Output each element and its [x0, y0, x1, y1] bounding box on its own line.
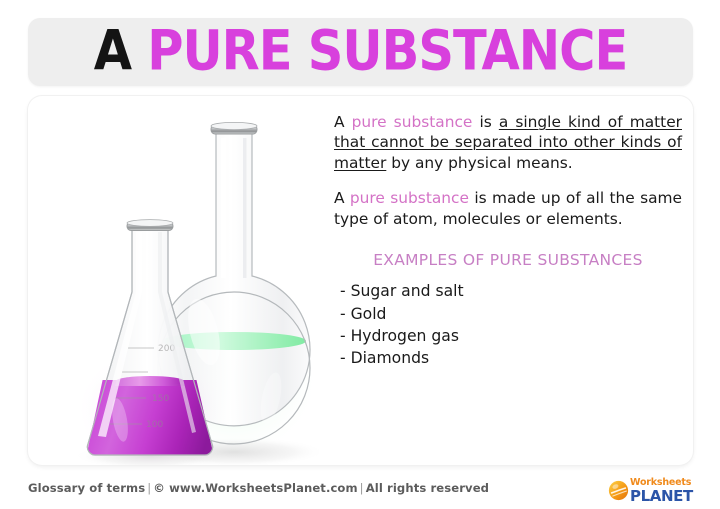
footer-separator-2: |	[358, 481, 366, 495]
examples-heading: EXAMPLES OF PURE SUBSTANCES	[334, 251, 682, 269]
p1-mid: is	[472, 113, 498, 131]
svg-text:100: 100	[146, 420, 163, 430]
definition-paragraph-2: A pure substance is made up of all the s…	[334, 188, 682, 229]
footer-glossary-label: Glossary of terms	[28, 481, 145, 495]
definition-paragraph-1: A pure substance is a single kind of mat…	[334, 112, 682, 173]
flasks-svg: 200 150 100	[28, 96, 338, 465]
title-card: A PURE SUBSTANCE	[28, 18, 693, 86]
examples-list: - Sugar and salt - Gold - Hydrogen gas -…	[334, 280, 682, 369]
p1-highlight: pure substance	[352, 113, 473, 131]
footer-rights: All rights reserved	[366, 481, 489, 495]
text-column: A pure substance is a single kind of mat…	[334, 112, 682, 370]
list-item: - Gold	[340, 303, 682, 325]
logo-planet-text: PLANET	[630, 489, 693, 504]
p1-pre: A	[334, 113, 352, 131]
footer-credits: Glossary of terms|© www.WorksheetsPlanet…	[28, 481, 489, 495]
page-title-main: PURE SUBSTANCE	[147, 18, 627, 82]
logo-wordmark: Worksheets PLANET	[630, 478, 693, 504]
svg-text:150: 150	[152, 394, 169, 404]
planet-swirl-icon	[608, 480, 629, 501]
footer-website[interactable]: www.WorksheetsPlanet.com	[169, 481, 358, 495]
flask-illustration: 200 150 100	[28, 96, 338, 465]
copyright-icon: ©	[153, 481, 165, 495]
page-title-article: A	[94, 18, 131, 82]
list-item: - Hydrogen gas	[340, 325, 682, 347]
magenta-meniscus	[116, 376, 184, 386]
footer: Glossary of terms|© www.WorksheetsPlanet…	[0, 473, 720, 509]
p2-pre: A	[334, 189, 350, 207]
content-card: 200 150 100 A pure substance is a single…	[28, 96, 693, 465]
list-item: - Diamonds	[340, 347, 682, 369]
p1-post: by any physical means.	[386, 154, 572, 172]
p2-highlight: pure substance	[350, 189, 469, 207]
list-item: - Sugar and salt	[340, 280, 682, 302]
worksheets-planet-logo[interactable]: Worksheets PLANET	[608, 477, 704, 505]
page-title: A PURE SUBSTANCE	[28, 23, 693, 78]
